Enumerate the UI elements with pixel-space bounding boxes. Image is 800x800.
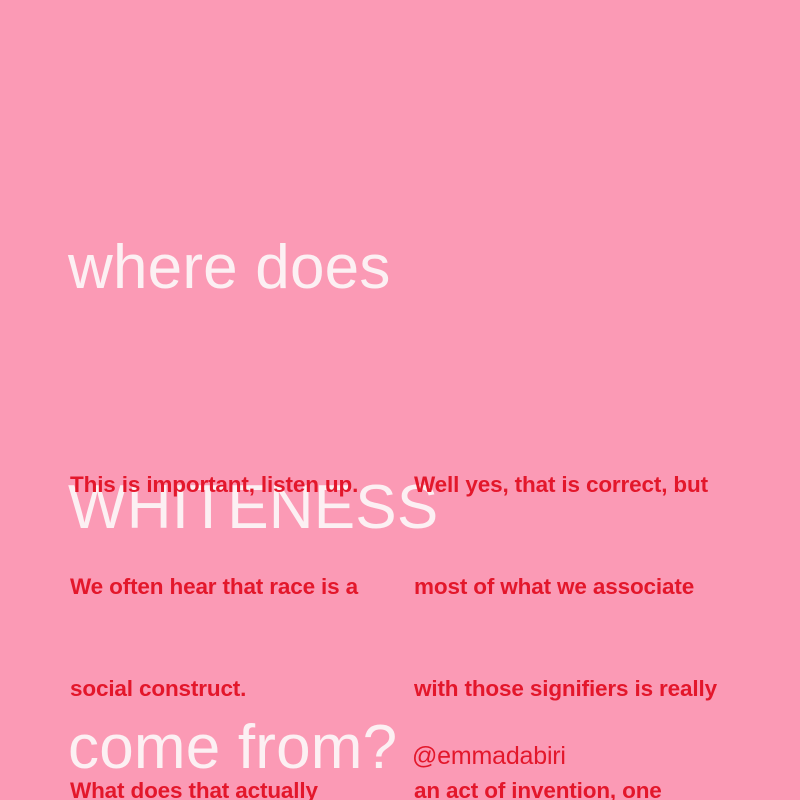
left-text-column: This is important, listen up. We often h… [70,400,400,800]
author-handle: @emmadabiri [412,740,566,772]
right-line-3: with those signifiers is really [414,672,754,706]
left-line-2: We often hear that race is a [70,570,400,604]
headline-line-1: where does [68,228,728,308]
body-columns: This is important, listen up. We often h… [0,400,800,700]
right-line-2: most of what we associate [414,570,754,604]
left-line-1: This is important, listen up. [70,468,400,502]
poster-canvas: where does WHITENESS come from? This is … [0,0,800,800]
right-line-4: an act of invention, one [414,774,754,800]
left-line-4: What does that actually [70,774,400,800]
left-line-3: social construct. [70,672,400,706]
right-line-1: Well yes, that is correct, but [414,468,754,502]
